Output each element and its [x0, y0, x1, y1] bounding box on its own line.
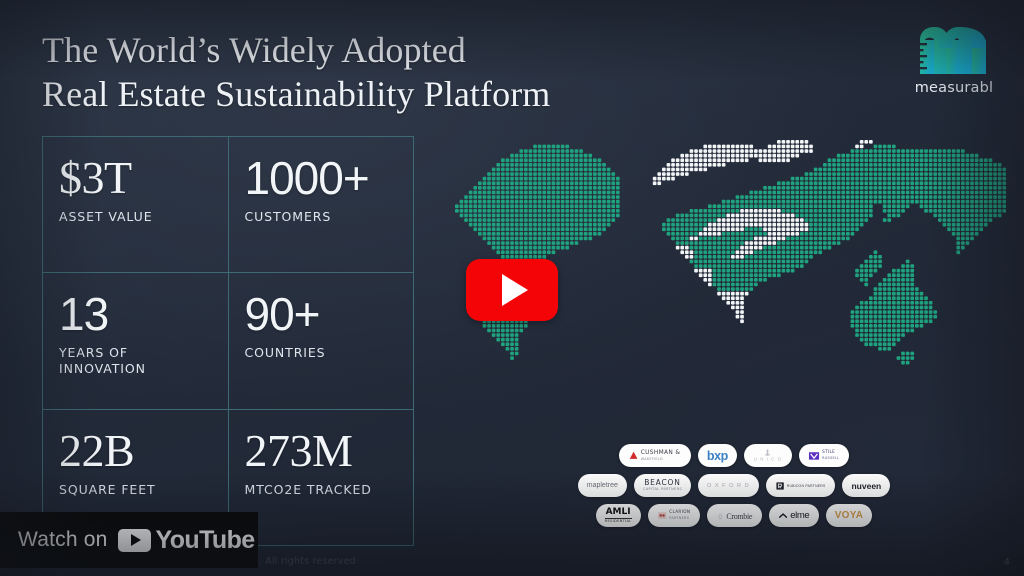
stat-cell-asset-value: $3T ASSET VALUE [43, 137, 229, 273]
stat-label: YEARS OF INNOVATION [59, 345, 228, 377]
statistics-grid: $3T ASSET VALUE 1000+ CUSTOMERS 13 YEARS… [42, 136, 414, 546]
stat-label: SQUARE FEET [59, 482, 228, 498]
customer-logo-oxford[interactable]: O X F O R D [698, 474, 759, 497]
stat-cell-countries: 90+ COUNTRIES [229, 273, 415, 409]
customer-logo-rubicon[interactable]: RUBICON PARTNERS [766, 474, 836, 497]
stile-russell-mark-icon [808, 452, 818, 460]
measurabl-wordmark: measurabl [906, 80, 1002, 96]
customer-logo-row: mapletree BEACON CAPITAL PARTNERS O X F … [576, 474, 892, 497]
rubicon-square-icon [776, 482, 784, 490]
elme-chevron-icon [778, 513, 787, 519]
stat-value: 90+ [245, 287, 414, 341]
title-line-2: Real Estate Sustainability Platform [42, 72, 722, 116]
watch-on-youtube-bar[interactable]: Watch on YouTube [0, 512, 258, 568]
measurabl-m-icon [918, 26, 990, 76]
stat-value: 22B [59, 424, 228, 478]
logo-text-primary: RUBICON PARTNERS [786, 484, 825, 488]
logo-text-primary: nuveen [851, 481, 881, 491]
stat-label: MTCO2E TRACKED [245, 482, 414, 498]
stat-label: ASSET VALUE [59, 209, 228, 225]
logo-text-primary: CLARION [669, 511, 690, 515]
logo-text-primary: bxp [707, 449, 728, 463]
stat-label: CUSTOMERS [245, 209, 414, 225]
logo-text-secondary: RESIDENTIAL [605, 518, 632, 523]
youtube-play-icon [118, 529, 151, 552]
logo-text-primary: Crombie [726, 511, 752, 521]
customer-logo-row: CUSHMAN & WAKEFIELD bxp U N I C O [576, 444, 892, 467]
logo-text-secondary: CAPITAL PARTNERS [643, 488, 682, 492]
presentation-slide: The World’s Widely Adopted Real Estate S… [0, 0, 1024, 576]
customer-logo-stile-russell[interactable]: STILE RUSSELL [799, 444, 849, 467]
customer-logo-beacon[interactable]: BEACON CAPITAL PARTNERS [634, 474, 691, 497]
stat-label: COUNTRIES [245, 345, 414, 361]
title-line-1: The World’s Widely Adopted [42, 30, 466, 70]
logo-text-secondary: PARTNERS [669, 517, 690, 520]
play-icon [502, 274, 528, 306]
logo-text-primary: VOYA [835, 510, 864, 521]
customer-logo-cushman-wakefield[interactable]: CUSHMAN & WAKEFIELD [619, 444, 691, 467]
stat-value: $3T [59, 151, 228, 205]
logo-text-primary: mapletree [587, 482, 618, 489]
logo-text-primary: CUSHMAN & [641, 450, 680, 456]
page-number: 4 [1004, 557, 1010, 568]
logo-text-primary: BEACON [644, 479, 680, 487]
logo-text-secondary: RUSSELL [822, 457, 839, 460]
customer-logo-bxp[interactable]: bxp [698, 444, 737, 467]
logo-text-primary: O X F O R D [707, 483, 750, 489]
stat-value: 13 [59, 287, 228, 341]
customer-logo-unico[interactable]: U N I C O [744, 444, 792, 467]
watch-on-label: Watch on [18, 528, 108, 552]
customer-logo-row: AMLI RESIDENTIAL CLARION PARTNERS [576, 504, 892, 527]
customer-logo-nuveen[interactable]: nuveen [842, 474, 890, 497]
crombie-leaf-icon [717, 512, 724, 519]
youtube-play-button[interactable] [466, 259, 558, 321]
customer-logo-clarion[interactable]: CLARION PARTNERS [648, 504, 700, 527]
unico-crest-icon [765, 449, 770, 456]
customer-logo-strip: CUSHMAN & WAKEFIELD bxp U N I C O [576, 444, 892, 534]
customer-logo-mapletree[interactable]: mapletree [578, 474, 627, 497]
logo-text-primary: STILE [822, 451, 839, 455]
logo-text-primary: AMLI [606, 508, 631, 517]
logo-text-secondary: WAKEFIELD [641, 457, 680, 460]
stat-value: 273M [245, 424, 414, 478]
youtube-logo: YouTube [118, 526, 255, 555]
measurabl-logo: measurabl [906, 26, 1002, 96]
stat-cell-customers: 1000+ CUSTOMERS [229, 137, 415, 273]
logo-text-primary: elme [790, 510, 809, 520]
page-title: The World’s Widely Adopted Real Estate S… [42, 28, 722, 116]
youtube-wordmark: YouTube [156, 526, 255, 555]
logo-text-primary: U N I C O [754, 457, 782, 462]
stat-cell-years-of-innovation: 13 YEARS OF INNOVATION [43, 273, 229, 409]
customer-logo-voya[interactable]: VOYA [826, 504, 873, 527]
cushman-triangle-icon [630, 451, 639, 460]
clarion-mark-icon [657, 512, 666, 519]
customer-logo-amli[interactable]: AMLI RESIDENTIAL [596, 504, 641, 527]
stat-value: 1000+ [245, 151, 414, 205]
customer-logo-elme[interactable]: elme [769, 504, 819, 527]
customer-logo-crombie[interactable]: Crombie [707, 504, 762, 527]
